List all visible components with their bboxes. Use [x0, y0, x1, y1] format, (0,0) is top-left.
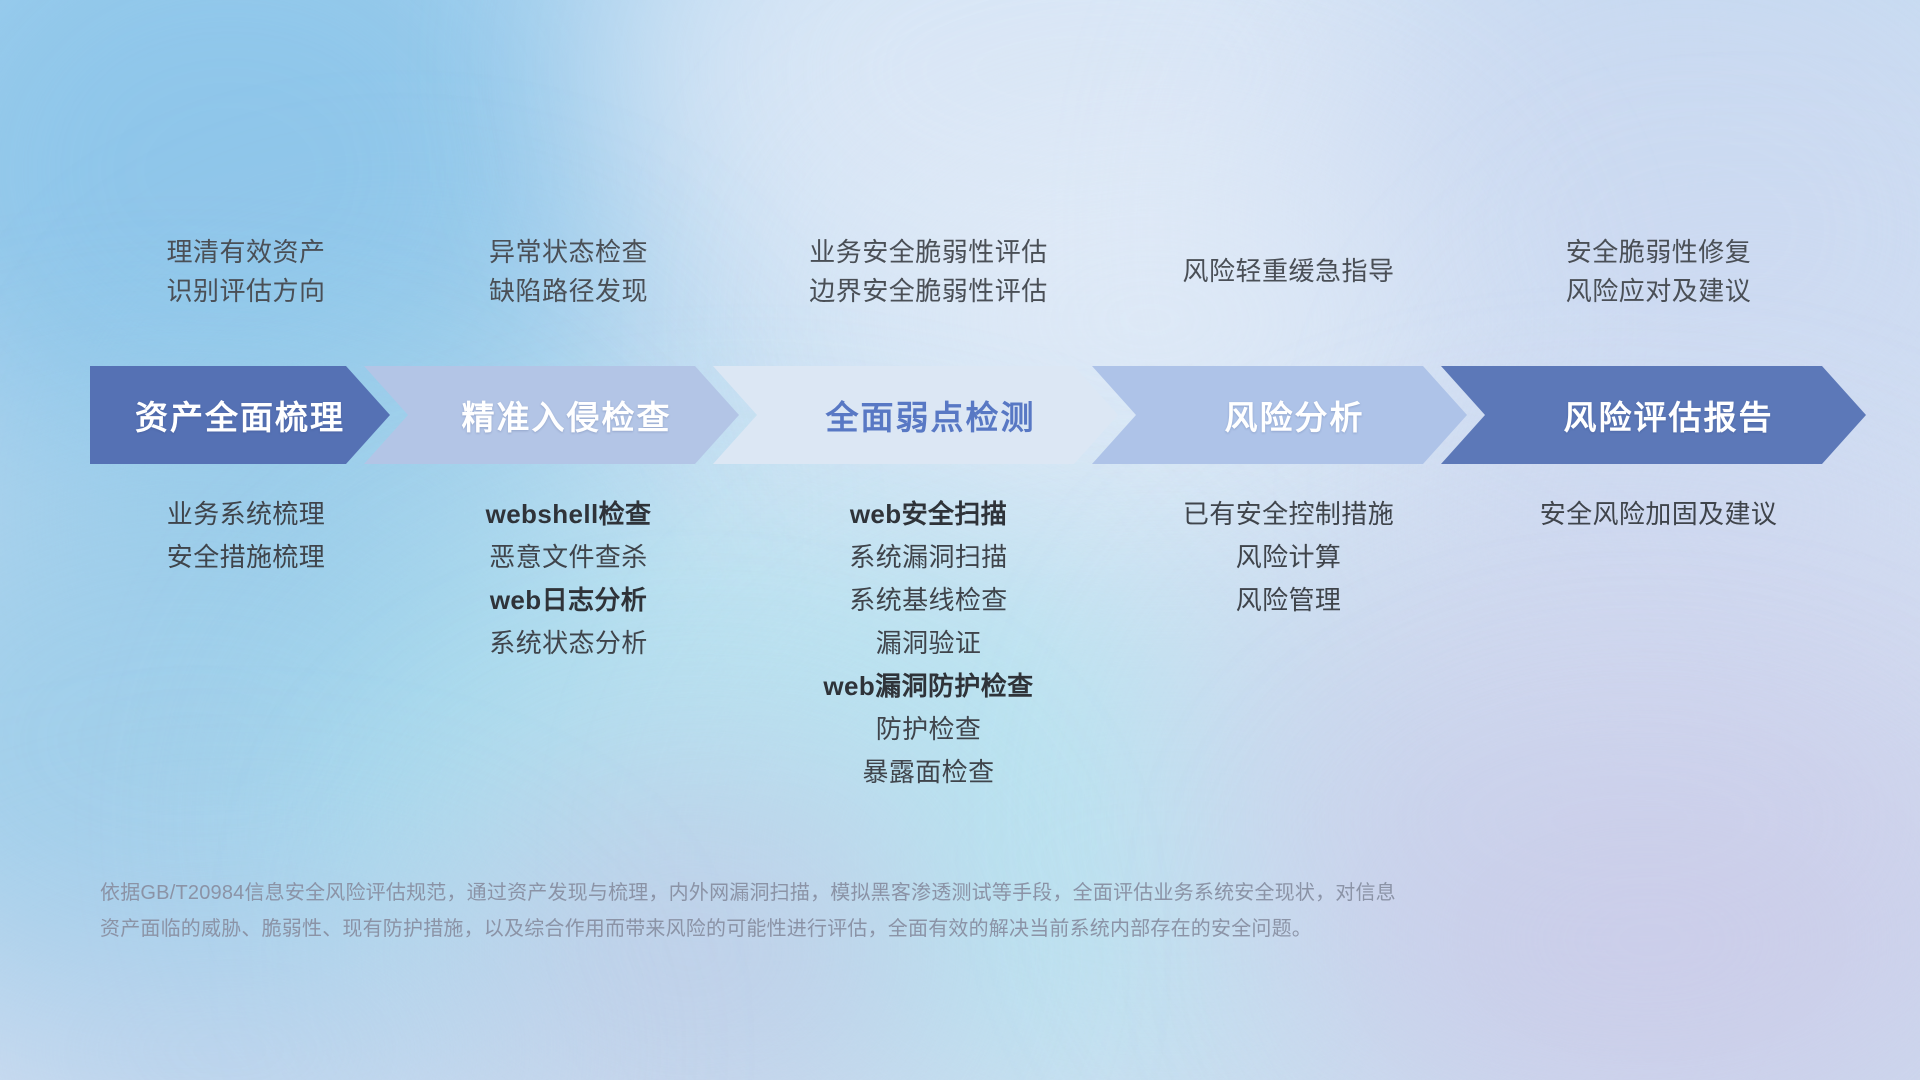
detail-item: web漏洞防护检查 [823, 672, 1033, 700]
detail-item: 系统状态分析 [489, 629, 647, 657]
process-chevron-band: 资产全面梳理精准入侵检查全面弱点检测风险分析风险评估报告 [90, 366, 1850, 464]
top-label: 风险轻重缓急指导 [1182, 258, 1394, 285]
process-step-label: 风险评估报告 [1564, 391, 1774, 439]
top-label: 业务安全脆弱性评估 [809, 239, 1048, 266]
top-label: 缺陷路径发现 [489, 278, 648, 305]
top-label: 边界安全脆弱性评估 [809, 278, 1048, 305]
detail-item: 安全措施梳理 [167, 543, 325, 571]
process-step-label: 资产全面梳理 [135, 391, 345, 439]
top-label: 异常状态检查 [489, 239, 648, 266]
detail-list-intrusion-check: webshell检查恶意文件查杀web日志分析系统状态分析 [396, 500, 741, 787]
footer-line-2: 资产面临的威胁、脆弱性、现有防护措施，以及综合作用而带来风险的可能性进行评估，全… [100, 911, 1660, 947]
detail-item: 防护检查 [876, 715, 982, 743]
top-labels-risk-analysis: 风险轻重缓急指导 [1116, 226, 1461, 318]
detail-item: 暴露面检查 [862, 758, 994, 786]
detail-list-assessment-report: 安全风险加固及建议 [1461, 500, 1856, 787]
detail-item: 安全风险加固及建议 [1540, 500, 1778, 528]
detail-item: 系统基线检查 [849, 586, 1007, 614]
detail-item: 系统漏洞扫描 [849, 543, 1007, 571]
detail-item: webshell检查 [486, 500, 652, 528]
footer-line-1: 依据GB/T20984信息安全风险评估规范，通过资产发现与梳理，内外网漏洞扫描，… [100, 875, 1660, 911]
top-labels-asset-inventory: 理清有效资产识别评估方向 [96, 226, 396, 318]
detail-item: 已有安全控制措施 [1183, 500, 1394, 528]
process-step-risk-analysis[interactable]: 风险分析 [1092, 366, 1467, 464]
detail-list-asset-inventory: 业务系统梳理安全措施梳理 [96, 500, 396, 787]
process-step-label: 精准入侵检查 [462, 391, 672, 439]
detail-list-risk-analysis: 已有安全控制措施风险计算风险管理 [1116, 500, 1461, 787]
process-step-weakness-detection[interactable]: 全面弱点检测 [713, 366, 1118, 464]
process-step-intrusion-check[interactable]: 精准入侵检查 [364, 366, 739, 464]
bottom-detail-row: 业务系统梳理安全措施梳理webshell检查恶意文件查杀web日志分析系统状态分… [96, 500, 1836, 787]
detail-item: 恶意文件查杀 [489, 543, 647, 571]
detail-list-weakness-detection: web安全扫描系统漏洞扫描系统基线检查漏洞验证web漏洞防护检查防护检查暴露面检… [741, 500, 1116, 787]
process-diagram: 理清有效资产识别评估方向异常状态检查缺陷路径发现业务安全脆弱性评估边界安全脆弱性… [0, 0, 1920, 1080]
top-label: 风险应对及建议 [1566, 278, 1752, 305]
top-label: 识别评估方向 [166, 278, 325, 305]
footer-description: 依据GB/T20984信息安全风险评估规范，通过资产发现与梳理，内外网漏洞扫描，… [100, 875, 1660, 947]
top-label-row: 理清有效资产识别评估方向异常状态检查缺陷路径发现业务安全脆弱性评估边界安全脆弱性… [96, 226, 1836, 318]
process-step-label: 风险分析 [1225, 391, 1365, 439]
top-labels-assessment-report: 安全脆弱性修复风险应对及建议 [1461, 226, 1856, 318]
top-labels-weakness-detection: 业务安全脆弱性评估边界安全脆弱性评估 [741, 226, 1116, 318]
detail-item: 业务系统梳理 [167, 500, 325, 528]
process-step-assessment-report[interactable]: 风险评估报告 [1441, 366, 1866, 464]
detail-item: 风险计算 [1236, 543, 1342, 571]
detail-item: 风险管理 [1236, 586, 1342, 614]
process-step-asset-inventory[interactable]: 资产全面梳理 [90, 366, 390, 464]
top-label: 理清有效资产 [166, 239, 325, 266]
detail-item: web日志分析 [490, 586, 647, 614]
top-labels-intrusion-check: 异常状态检查缺陷路径发现 [396, 226, 741, 318]
detail-item: 漏洞验证 [876, 629, 982, 657]
process-step-label: 全面弱点检测 [826, 391, 1036, 439]
detail-item: web安全扫描 [850, 500, 1007, 528]
top-label: 安全脆弱性修复 [1566, 239, 1752, 266]
